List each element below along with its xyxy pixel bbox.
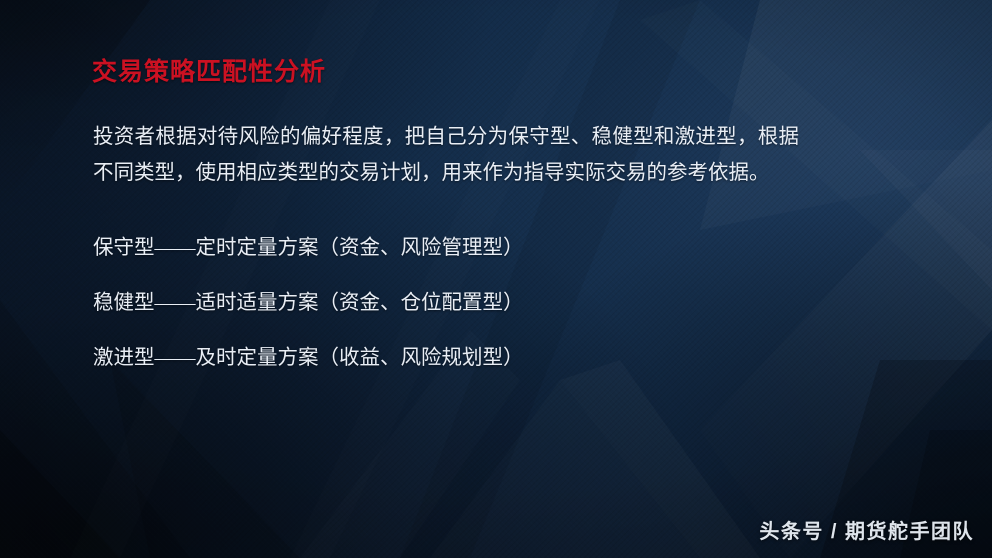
presentation-slide: 交易策略匹配性分析 投资者根据对待风险的偏好程度，把自己分为保守型、稳健型和激进…: [0, 0, 992, 558]
slide-body: 投资者根据对待风险的偏好程度，把自己分为保守型、稳健型和激进型，根据不同类型，使…: [93, 119, 799, 191]
slide-content: 交易策略匹配性分析 投资者根据对待风险的偏好程度，把自己分为保守型、稳健型和激进…: [0, 0, 992, 558]
slide-title: 交易策略匹配性分析: [92, 56, 326, 90]
intro-paragraph: 投资者根据对待风险的偏好程度，把自己分为保守型、稳健型和激进型，根据不同类型，使…: [93, 119, 799, 191]
list-item: 激进型——及时定量方案（收益、风险规划型）: [93, 345, 524, 371]
footer-credit: 头条号 / 期货舵手团队: [759, 518, 974, 546]
list-item: 保守型——定时定量方案（资金、风险管理型）: [93, 235, 524, 261]
list-item: 稳健型——适时适量方案（资金、仓位配置型）: [93, 290, 524, 316]
